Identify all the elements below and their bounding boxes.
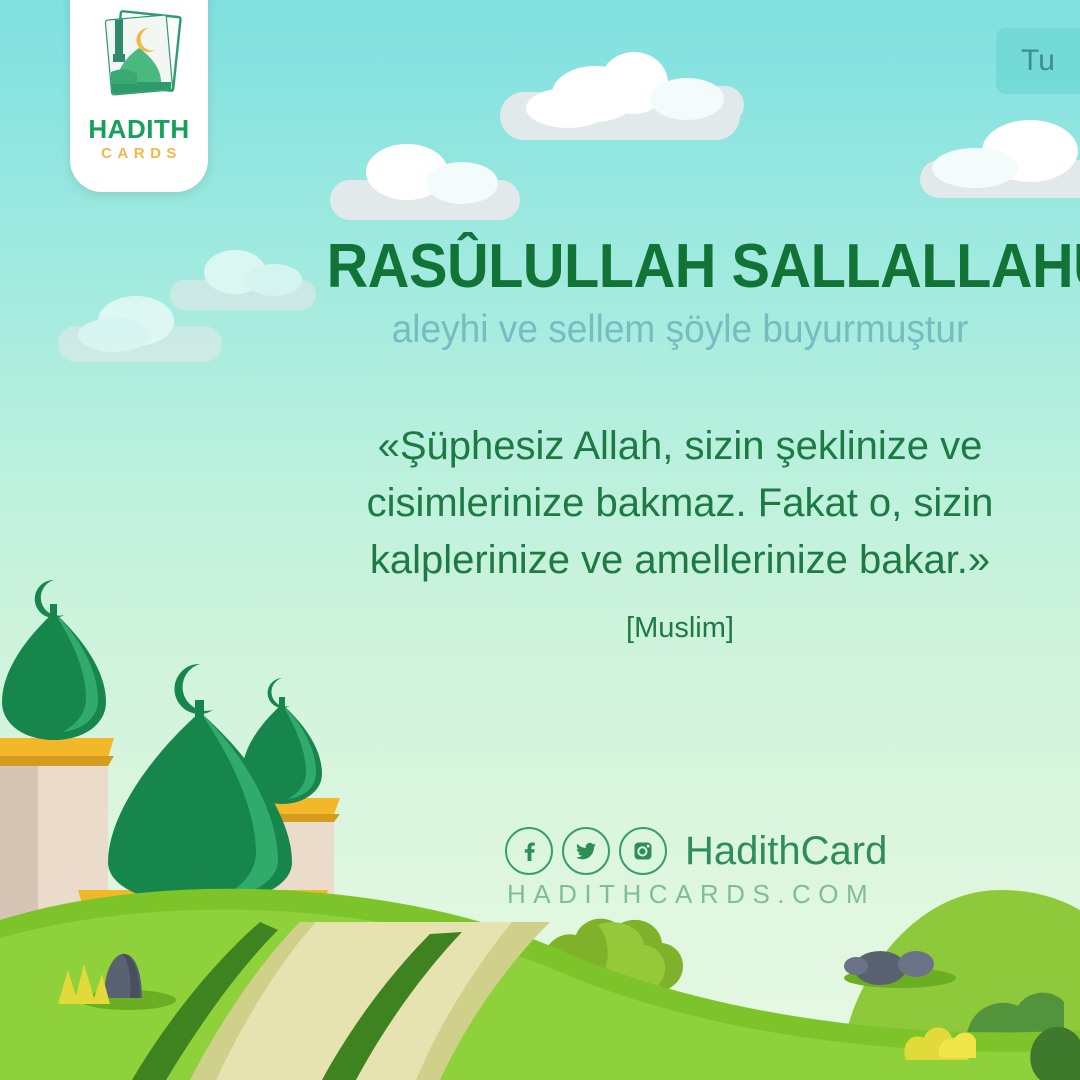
- page-title: RASÛLULLAH SALLALLAHU: [327, 236, 1034, 298]
- hadith-quote: «Şüphesiz Allah, sizin şeklinize ve cisi…: [338, 418, 1022, 588]
- logo-cards-text: CARDS: [88, 146, 189, 161]
- page-subtitle: aleyhi ve sellem şöyle buyurmuştur: [319, 306, 1041, 355]
- mosque-photo-stack-icon: [87, 4, 191, 112]
- hadith-source: [Muslim]: [300, 612, 1060, 645]
- landscape-foreground: [0, 860, 1080, 1080]
- logo-wordmark: HADITH CARDS: [88, 116, 189, 161]
- logo-hadith-text: HADITH: [88, 116, 189, 142]
- logo-badge[interactable]: HADITH CARDS: [70, 0, 208, 192]
- hadith-card: Tu: [0, 0, 1080, 1080]
- cloud-left-lower: [58, 296, 224, 362]
